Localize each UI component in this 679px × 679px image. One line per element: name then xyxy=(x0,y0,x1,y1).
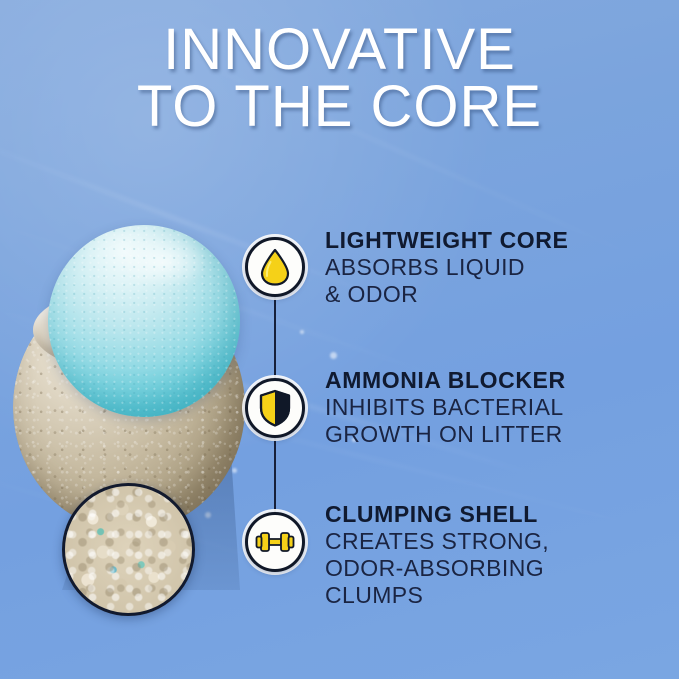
feature-desc-line: ODOR-ABSORBING xyxy=(325,555,655,582)
feature-description: INHIBITS BACTERIAL GROWTH ON LITTER xyxy=(325,394,655,449)
feature-block-ammonia-blocker: AMMONIA BLOCKER INHIBITS BACTERIAL GROWT… xyxy=(325,368,655,448)
feature-desc-line: CLUMPS xyxy=(325,582,655,609)
feature-block-lightweight-core: LIGHTWEIGHT CORE ABSORBS LIQUID & ODOR xyxy=(325,228,655,308)
shield-icon xyxy=(259,389,291,427)
feature-icon-badge-clumping-shell xyxy=(245,512,305,572)
feature-description: ABSORBS LIQUID & ODOR xyxy=(325,254,655,309)
product-illustration xyxy=(0,225,265,645)
feature-title: AMMONIA BLOCKER xyxy=(325,368,655,394)
dumbbell-icon xyxy=(255,529,295,555)
title-line-1: INNOVATIVE xyxy=(163,17,516,82)
magnified-granules-graphic xyxy=(62,483,195,616)
feature-desc-line: CREATES STRONG, xyxy=(325,528,655,555)
feature-desc-line: INHIBITS BACTERIAL xyxy=(325,394,655,421)
feature-icon-badge-lightweight-core xyxy=(245,237,305,297)
feature-desc-line: GROWTH ON LITTER xyxy=(325,421,655,448)
feature-block-clumping-shell: CLUMPING SHELL CREATES STRONG, ODOR-ABSO… xyxy=(325,502,655,610)
lightweight-core-graphic xyxy=(48,225,240,417)
feature-desc-line: & ODOR xyxy=(325,281,655,308)
sparkle xyxy=(330,352,337,359)
product-infographic: INNOVATIVE TO THE CORE xyxy=(0,0,679,679)
water-droplet-icon xyxy=(258,248,292,286)
core-highlight xyxy=(118,235,210,289)
sparkle xyxy=(300,330,304,334)
feature-title: CLUMPING SHELL xyxy=(325,502,655,528)
title-line-2: TO THE CORE xyxy=(0,79,679,136)
feature-desc-line: ABSORBS LIQUID xyxy=(325,254,655,281)
feature-description: CREATES STRONG, ODOR-ABSORBING CLUMPS xyxy=(325,528,655,610)
page-title: INNOVATIVE TO THE CORE xyxy=(0,22,679,136)
feature-title: LIGHTWEIGHT CORE xyxy=(325,228,655,254)
feature-icon-badge-ammonia-blocker xyxy=(245,378,305,438)
